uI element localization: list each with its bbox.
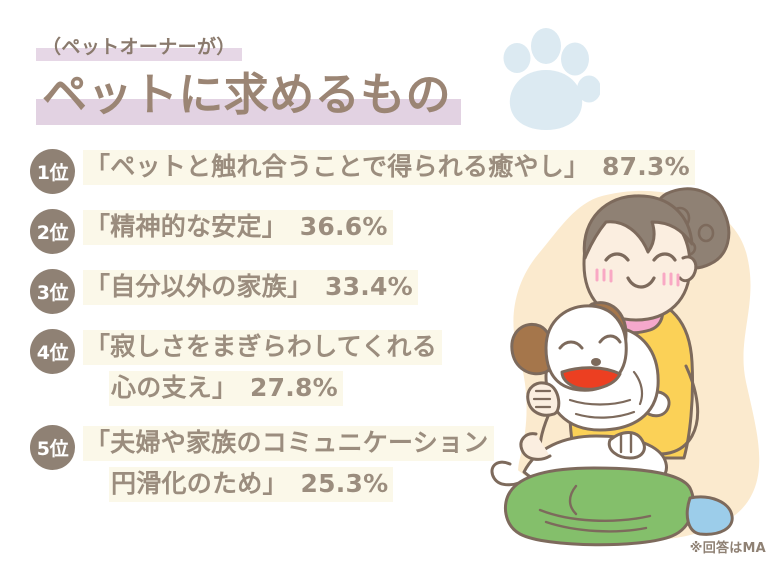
rank-line: 心の支え」 27.8% <box>83 371 730 406</box>
rank-line: 「自分以外の家族」 33.4% <box>83 270 730 305</box>
subtitle-row: （ペットオーナーが） <box>36 34 506 61</box>
rank-text-2: 「精神的な安定」 36.6% <box>83 208 730 245</box>
page-subtitle: （ペットオーナーが） <box>36 34 242 61</box>
rank-badge-3: 3位 <box>30 269 75 314</box>
rank-line: 円滑化のため」 25.3% <box>83 467 730 502</box>
rank-badge-1: 1位 <box>30 149 75 194</box>
rank-badge-2: 2位 <box>30 209 75 254</box>
rank-line: 「ペットと触れ合うことで得られる癒やし」 87.3% <box>83 150 730 185</box>
rank-line: 「夫婦や家族のコミュニケーション <box>83 426 730 461</box>
page-title: ペットに求めるもの <box>36 68 461 125</box>
rank-badge-4: 4位 <box>30 329 75 374</box>
title-row: ペットに求めるもの <box>36 68 506 125</box>
rank-text-5: 「夫婦や家族のコミュニケーション 円滑化のため」 25.3% <box>83 424 730 502</box>
rank-line: 「精神的な安定」 36.6% <box>83 210 730 245</box>
ranking-row-5: 5位 「夫婦や家族のコミュニケーション 円滑化のため」 25.3% <box>30 424 730 502</box>
infographic-root: （ペットオーナーが） ペットに求めるもの <box>0 0 784 570</box>
rank-line: 「寂しさをまぎらわしてくれる <box>83 330 730 365</box>
ranking-row-1: 1位 「ペットと触れ合うことで得られる癒やし」 87.3% <box>30 148 730 194</box>
ranking-list: 1位 「ペットと触れ合うことで得られる癒やし」 87.3% 2位 「精神的な安定… <box>30 148 730 520</box>
ranking-row-4: 4位 「寂しさをまぎらわしてくれる 心の支え」 27.8% <box>30 328 730 406</box>
ranking-row-2: 2位 「精神的な安定」 36.6% <box>30 208 730 254</box>
rank-text-1: 「ペットと触れ合うことで得られる癒やし」 87.3% <box>83 148 730 185</box>
rank-text-4: 「寂しさをまぎらわしてくれる 心の支え」 27.8% <box>83 328 730 406</box>
header: （ペットオーナーが） ペットに求めるもの <box>36 34 506 125</box>
rank-badge-5: 5位 <box>30 425 75 470</box>
rank-text-3: 「自分以外の家族」 33.4% <box>83 268 730 305</box>
ranking-row-3: 3位 「自分以外の家族」 33.4% <box>30 268 730 314</box>
footnote: ※回答はMA <box>690 537 766 556</box>
